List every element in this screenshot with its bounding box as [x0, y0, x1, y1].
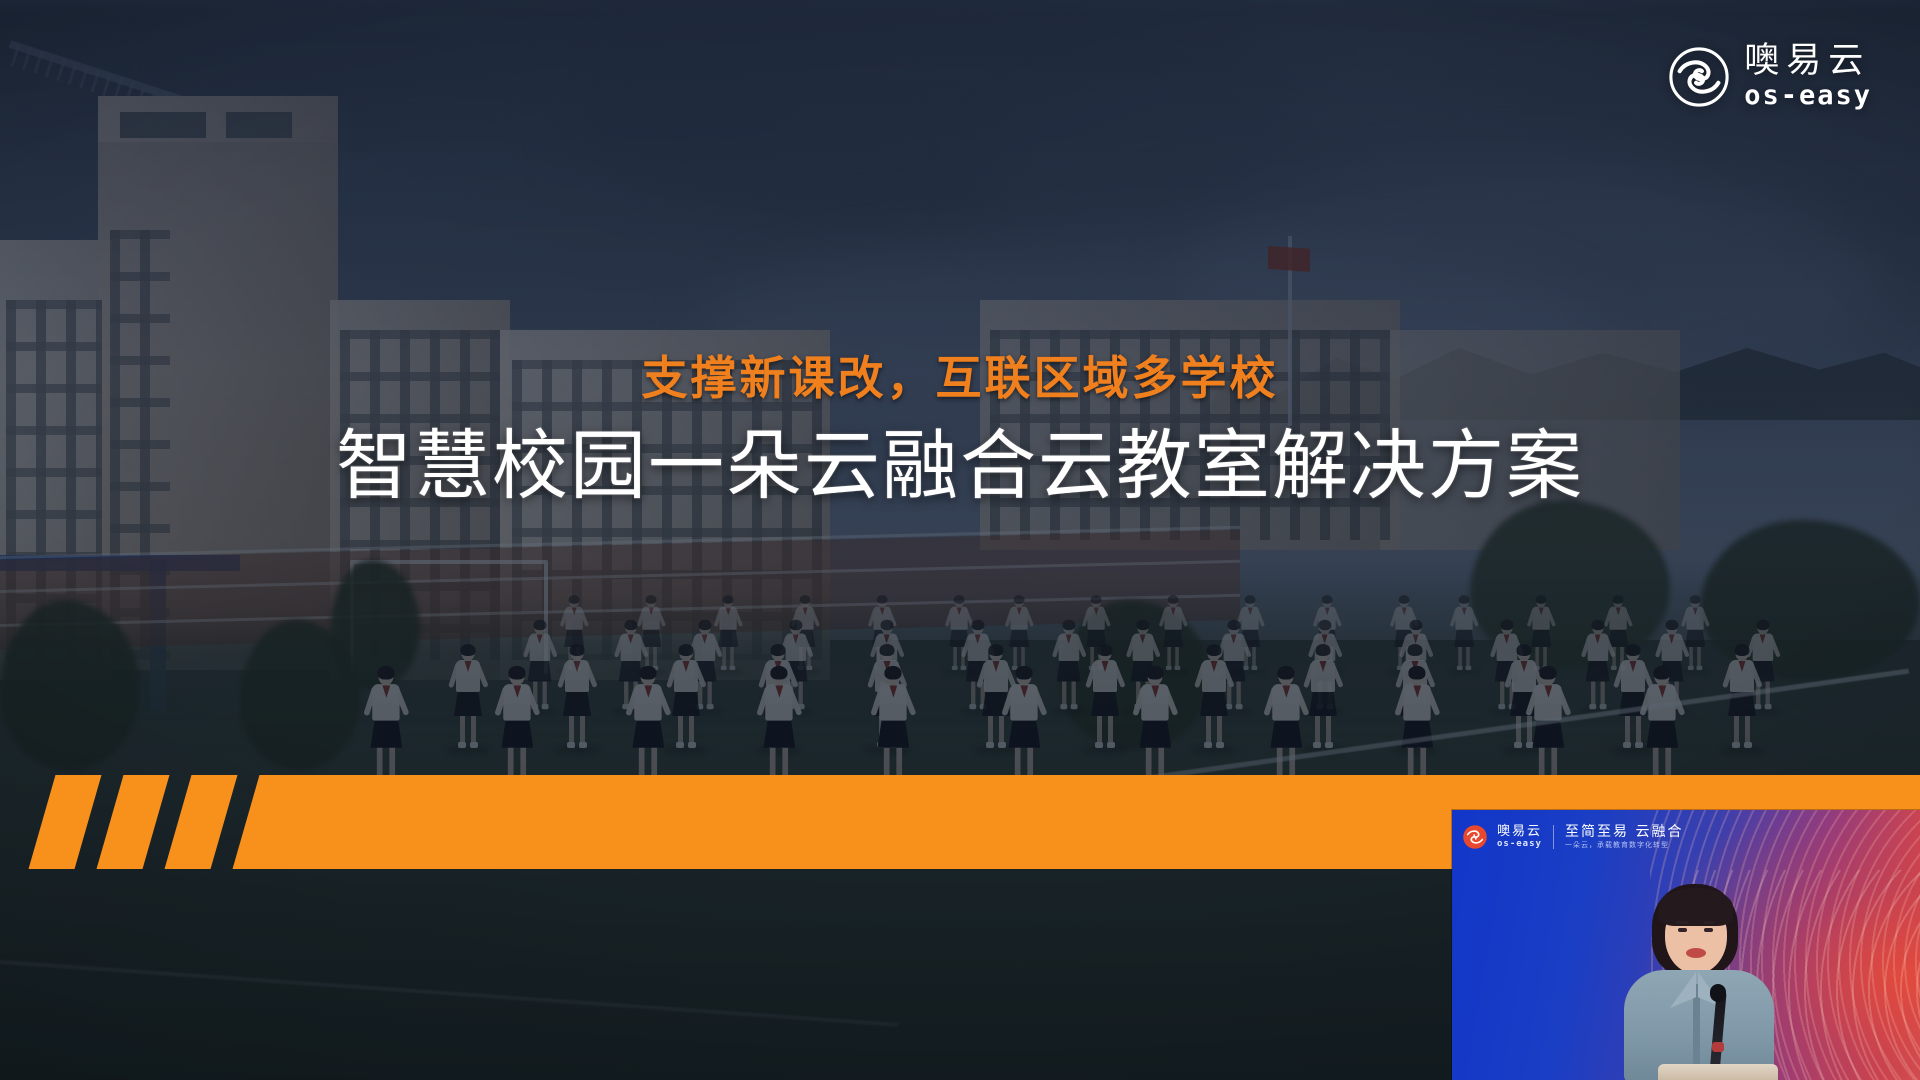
os-easy-swirl-logo-icon — [1668, 46, 1730, 108]
bar-stripe — [97, 775, 170, 869]
slide-subtitle: 支撑新课改，互联区域多学校 — [0, 352, 1920, 405]
presenter-eyebrow — [1676, 921, 1688, 924]
presenter-mouth — [1686, 948, 1706, 958]
logo-en-text: os-easy — [1744, 82, 1872, 109]
presenter-eye — [1704, 928, 1713, 932]
pip-logo-en-text: os-easy — [1497, 840, 1542, 849]
podium — [1658, 1064, 1778, 1080]
presenter-eyebrow — [1703, 921, 1715, 924]
slide-title: 智慧校园一朵云融合云教室解决方案 — [0, 423, 1920, 508]
pip-stage-banner: 噢易云 os-easy 至简至易 云融合 一朵云，承载教育数字化转型 — [1462, 824, 1683, 850]
pip-banner-divider — [1553, 825, 1554, 849]
presenter-hair — [1659, 888, 1733, 926]
microphone-band — [1712, 1042, 1724, 1052]
bar-stripe — [165, 775, 238, 869]
headline-block: 支撑新课改，互联区域多学校 智慧校园一朵云融合云教室解决方案 — [0, 352, 1920, 508]
os-easy-swirl-logo-small-icon — [1462, 824, 1488, 850]
brand-logo: 噢易云 os-easy — [1668, 44, 1872, 109]
presenter-video-overlay[interactable]: 噢易云 os-easy 至简至易 云融合 一朵云，承载教育数字化转型 — [1452, 810, 1920, 1080]
logo-cn-text: 噢易云 — [1744, 44, 1872, 79]
pip-logo-cn-text: 噢易云 — [1497, 825, 1542, 838]
presentation-slide: 噢易云 os-easy 支撑新课改，互联区域多学校 智慧校园一朵云融合云教室解决… — [0, 0, 1920, 1080]
bar-stripe — [29, 775, 102, 869]
microphone-icon — [1710, 984, 1726, 1002]
presenter-figure — [1618, 884, 1778, 1080]
pip-banner-slogan: 至简至易 云融合 — [1565, 825, 1683, 839]
pip-banner-slogan-sub: 一朵云，承载教育数字化转型 — [1565, 842, 1683, 849]
presenter-eye — [1678, 928, 1687, 932]
